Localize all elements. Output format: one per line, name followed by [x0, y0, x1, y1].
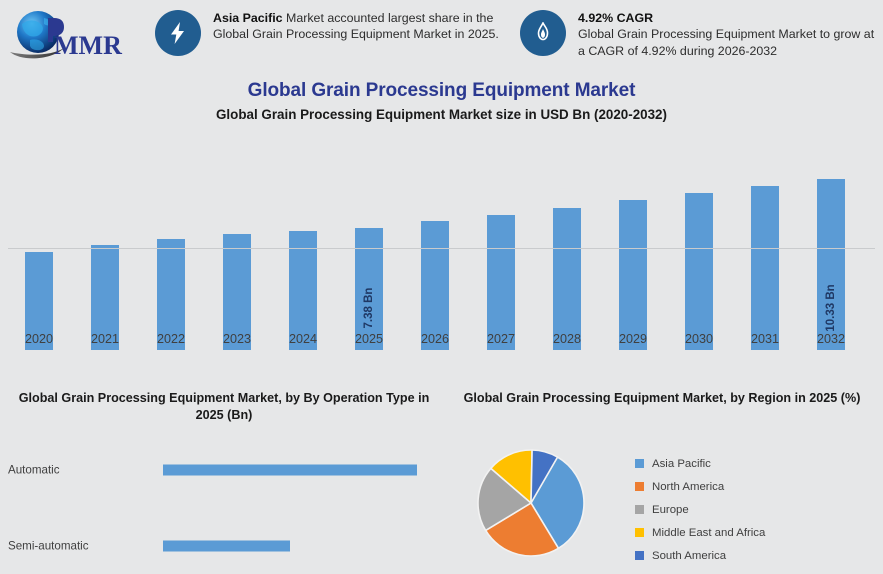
- globe-icon: MMR: [8, 4, 148, 68]
- column-value-label: 10.33 Bn: [825, 284, 837, 331]
- column-group: 2030: [666, 160, 732, 350]
- legend-swatch: [635, 551, 644, 560]
- logo-text: MMR: [54, 31, 122, 60]
- legend-label: South America: [652, 550, 726, 562]
- hbar-fill[interactable]: [163, 541, 290, 552]
- x-axis-tick-label: 2030: [666, 332, 732, 346]
- infographic-page: MMR Asia Pacific Market accounted larges…: [0, 0, 883, 574]
- column-group: 2023: [204, 160, 270, 350]
- x-axis-tick-label: 2026: [402, 332, 468, 346]
- x-axis-tick-label: 2032: [798, 332, 864, 346]
- column-group: 2031: [732, 160, 798, 350]
- column-group: 2022: [138, 160, 204, 350]
- column-bar[interactable]: [553, 208, 581, 350]
- operation-type-bar-chart: AutomaticSemi-automatic: [0, 436, 442, 574]
- kpi-card-cagr: 4.92% CAGR Global Grain Processing Equip…: [520, 8, 880, 59]
- legend-item[interactable]: North America: [635, 475, 765, 498]
- legend-swatch: [635, 459, 644, 468]
- region-panel-title: Global Grain Processing Equipment Market…: [446, 390, 878, 407]
- market-size-column-chart: 202020212022202320247.38 Bn2025202620272…: [0, 130, 883, 378]
- column-group: 2028: [534, 160, 600, 350]
- pie-legend: Asia PacificNorth AmericaEuropeMiddle Ea…: [635, 452, 765, 567]
- hbar-track: [163, 541, 433, 552]
- x-axis-tick-label: 2031: [732, 332, 798, 346]
- hbar-row: Semi-automatic: [0, 532, 442, 560]
- header: MMR Asia Pacific Market accounted larges…: [0, 0, 883, 72]
- page-subtitle: Global Grain Processing Equipment Market…: [0, 107, 883, 122]
- pie-graphic: [475, 447, 587, 559]
- x-axis-tick-label: 2021: [72, 332, 138, 346]
- legend-item[interactable]: Asia Pacific: [635, 452, 765, 475]
- legend-item[interactable]: Middle East and Africa: [635, 521, 765, 544]
- kpi-card-asia-pacific: Asia Pacific Market accounted largest sh…: [155, 8, 525, 56]
- hbar-row: Automatic: [0, 456, 442, 484]
- legend-label: North America: [652, 481, 724, 493]
- x-axis-tick-label: 2029: [600, 332, 666, 346]
- column-group: 2020: [6, 160, 72, 350]
- flame-icon-circle: [520, 10, 566, 56]
- x-axis-tick-label: 2028: [534, 332, 600, 346]
- column-bar[interactable]: [751, 186, 779, 350]
- hbar-track: [163, 465, 433, 476]
- kpi-text: 4.92% CAGR Global Grain Processing Equip…: [578, 8, 880, 59]
- x-axis-tick-label: 2025: [336, 332, 402, 346]
- column-group: 2027: [468, 160, 534, 350]
- column-bar[interactable]: [619, 200, 647, 350]
- column-value-label: 7.38 Bn: [363, 288, 375, 329]
- flame-icon: [534, 22, 552, 44]
- kpi-body: Global Grain Processing Equipment Market…: [578, 27, 874, 57]
- column-group: 2024: [270, 160, 336, 350]
- operation-type-panel-title: Global Grain Processing Equipment Market…: [8, 390, 440, 424]
- region-pie-chart: Asia PacificNorth AmericaEuropeMiddle Ea…: [446, 436, 883, 574]
- hbar-category-label: Semi-automatic: [8, 540, 89, 553]
- hbar-fill[interactable]: [163, 465, 417, 476]
- legend-item[interactable]: South America: [635, 544, 765, 567]
- legend-swatch: [635, 528, 644, 537]
- hbar-category-label: Automatic: [8, 464, 60, 477]
- column-bar[interactable]: [421, 221, 449, 350]
- column-group: 2029: [600, 160, 666, 350]
- kpi-text: Asia Pacific Market accounted largest sh…: [213, 8, 525, 43]
- column-group: 2026: [402, 160, 468, 350]
- legend-label: Europe: [652, 504, 689, 516]
- column-group: 2021: [72, 160, 138, 350]
- x-axis-tick-label: 2022: [138, 332, 204, 346]
- x-axis-tick-label: 2024: [270, 332, 336, 346]
- kpi-highlight: Asia Pacific: [213, 11, 283, 25]
- x-axis-tick-label: 2027: [468, 332, 534, 346]
- page-title: Global Grain Processing Equipment Market: [0, 80, 883, 102]
- legend-item[interactable]: Europe: [635, 498, 765, 521]
- mmr-logo: MMR: [8, 4, 148, 68]
- x-axis-tick-label: 2023: [204, 332, 270, 346]
- x-axis-tick-label: 2020: [6, 332, 72, 346]
- bolt-icon: [167, 21, 189, 45]
- column-group: 7.38 Bn2025: [336, 160, 402, 350]
- column-group: 10.33 Bn2032: [798, 160, 864, 350]
- bolt-icon-circle: [155, 10, 201, 56]
- chart-divider: [8, 248, 875, 249]
- column-bar[interactable]: [487, 215, 515, 350]
- legend-label: Asia Pacific: [652, 458, 711, 470]
- legend-swatch: [635, 505, 644, 514]
- legend-label: Middle East and Africa: [652, 527, 765, 539]
- legend-swatch: [635, 482, 644, 491]
- kpi-highlight: 4.92% CAGR: [578, 11, 653, 25]
- column-bar[interactable]: [685, 193, 713, 350]
